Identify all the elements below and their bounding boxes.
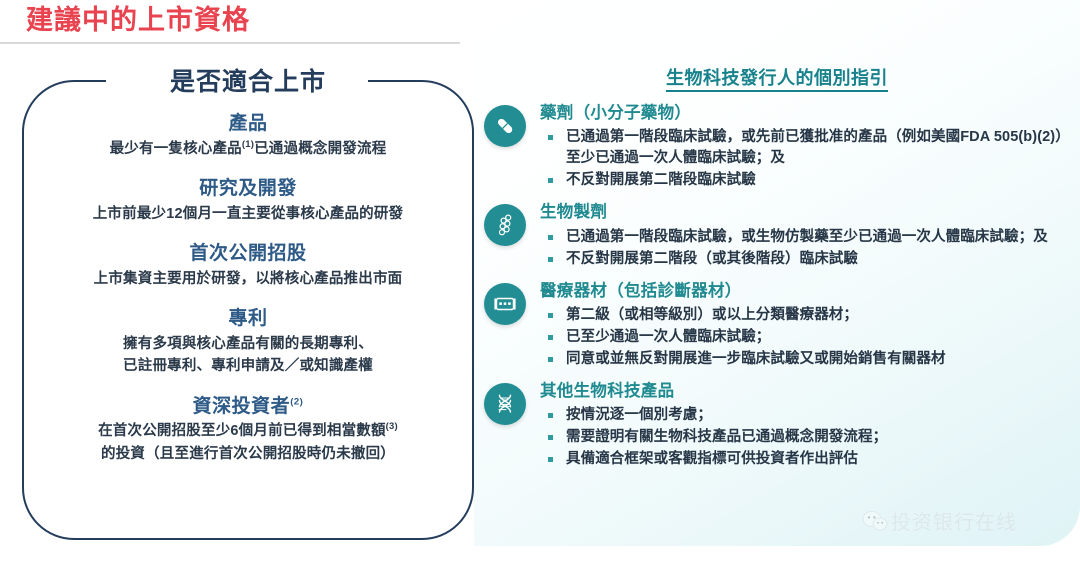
dna-helix-icon	[484, 383, 526, 425]
section-biologics: 生物製劑 已通過第一階段臨床試驗，或生物仿製藥至少已通過一次人體臨床試驗；及 不…	[484, 201, 1080, 270]
left-block-desc: 最少有一隻核心產品(1)已通過概念開發流程	[36, 138, 460, 160]
pill-capsule-icon	[484, 105, 526, 147]
section-title: 醫療器材（包括診斷器材）	[540, 280, 1080, 302]
section-body: 藥劑（小分子藥物） 已通過第一階段臨床試驗，或先前已獲批准的產品（例如美國FDA…	[540, 102, 1080, 192]
section-title: 藥劑（小分子藥物）	[540, 102, 1080, 124]
page-title: 建議中的上市資格	[26, 4, 250, 38]
section-bullet-list: 第二級（或相等級別）或以上分類醫療器材； 已至少通過一次人體臨床試驗； 同意或並…	[540, 305, 1080, 370]
left-block-desc-line1: 在首次公開招股至少6個月前已得到相當數額(3)	[36, 420, 460, 442]
section-body: 醫療器材（包括診斷器材） 第二級（或相等級別）或以上分類醫療器材； 已至少通過一…	[540, 280, 1080, 371]
bullet-item: 不反對開展第二階段臨床試驗	[540, 170, 1080, 191]
right-panel-heading: 生物科技發行人的個別指引	[474, 64, 1080, 90]
left-block-desc-line2: 已註冊專利、專利申請及／或知識產權	[36, 355, 460, 377]
section-bullet-list: 按情況逐一個別考慮； 需要證明有關生物科技產品已通過概念開發流程； 具備適合框架…	[540, 405, 1080, 470]
section-bullet-list: 已通過第一階段臨床試驗，或先前已獲批准的產品（例如美國FDA 505(b)(2)…	[540, 127, 1080, 191]
left-block-patent: 專利 擁有多項與核心產品有關的長期專利、 已註冊專利、專利申請及／或知識產權	[36, 305, 460, 377]
bullet-item: 第二級（或相等級別）或以上分類醫療器材；	[540, 305, 1080, 326]
left-block-title: 研究及開發	[36, 175, 460, 203]
section-bullet-list: 已通過第一階段臨床試驗，或生物仿製藥至少已通過一次人體臨床試驗；及 不反對開展第…	[540, 227, 1080, 270]
bullet-item: 已至少通過一次人體臨床試驗；	[540, 327, 1080, 348]
left-block-desc-line1: 擁有多項與核心產品有關的長期專利、	[36, 333, 460, 355]
footnote-marker-3: (3)	[386, 421, 398, 432]
bullet-item: 需要證明有關生物科技產品已通過概念開發流程；	[540, 427, 1080, 448]
left-block-desc-line2: 的投資（且至進行首次公開招股時仍未撤回）	[36, 443, 460, 465]
slide-root: 建議中的上市資格 是否適合上市 產品 最少有一隻核心產品(1)已通過概念開發流程…	[0, 0, 1080, 562]
left-block-desc-post: 已通過概念開發流程	[254, 141, 386, 157]
section-medical-device: 醫療器材（包括診斷器材） 第二級（或相等級別）或以上分類醫療器材； 已至少通過一…	[484, 280, 1080, 371]
medical-device-icon	[484, 283, 526, 325]
right-panel-heading-text: 生物科技發行人的個別指引	[666, 68, 888, 92]
left-block-ipo: 首次公開招股 上市集資主要用於研發，以將核心產品推出市面	[36, 240, 460, 290]
title-divider	[0, 42, 460, 44]
left-block-desc-pre: 在首次公開招股至少6個月前已得到相當數額	[98, 423, 386, 439]
left-block-desc-pre: 最少有一隻核心產品	[110, 141, 242, 157]
footnote-marker-2: (2)	[290, 396, 303, 407]
left-block-sophisticated-investor: 資深投資者(2) 在首次公開招股至少6個月前已得到相當數額(3) 的投資（且至進…	[36, 393, 460, 465]
left-block-rnd: 研究及開發 上市前最少12個月一直主要從事核心產品的研發	[36, 175, 460, 225]
section-other-biotech: 其他生物科技產品 按情況逐一個別考慮； 需要證明有關生物科技產品已通過概念開發流…	[484, 380, 1080, 471]
section-body: 其他生物科技產品 按情況逐一個別考慮； 需要證明有關生物科技產品已通過概念開發流…	[540, 380, 1080, 471]
section-title: 生物製劑	[540, 201, 1080, 223]
molecule-chain-icon	[484, 204, 526, 246]
left-block-title: 資深投資者(2)	[36, 393, 460, 421]
left-panel-heading: 是否適合上市	[22, 66, 474, 99]
bullet-item: 已通過第一階段臨床試驗，或先前已獲批准的產品（例如美國FDA 505(b)(2)…	[540, 127, 1080, 169]
left-panel: 是否適合上市 產品 最少有一隻核心產品(1)已通過概念開發流程 研究及開發 上市…	[22, 62, 474, 540]
section-body: 生物製劑 已通過第一階段臨床試驗，或生物仿製藥至少已通過一次人體臨床試驗；及 不…	[540, 201, 1080, 270]
left-block-product: 產品 最少有一隻核心產品(1)已通過概念開發流程	[36, 110, 460, 160]
bullet-item: 具備適合框架或客觀指標可供投資者作出評估	[540, 449, 1080, 470]
left-block-desc: 上市集資主要用於研發，以將核心產品推出市面	[36, 268, 460, 290]
bullet-item: 不反對開展第二階段（或其後階段）臨床試驗	[540, 249, 1080, 270]
left-panel-body: 產品 最少有一隻核心產品(1)已通過概念開發流程 研究及開發 上市前最少12個月…	[36, 110, 460, 465]
guidance-sections: 藥劑（小分子藥物） 已通過第一階段臨床試驗，或先前已獲批准的產品（例如美國FDA…	[484, 102, 1080, 480]
bullet-item: 已通過第一階段臨床試驗，或生物仿製藥至少已通過一次人體臨床試驗；及	[540, 227, 1080, 248]
right-panel: 生物科技發行人的個別指引 藥劑（小分子藥物） 已通過	[474, 0, 1080, 546]
bullet-item: 按情況逐一個別考慮；	[540, 405, 1080, 426]
section-pharmaceutical: 藥劑（小分子藥物） 已通過第一階段臨床試驗，或先前已獲批准的產品（例如美國FDA…	[484, 102, 1080, 192]
section-title: 其他生物科技產品	[540, 380, 1080, 402]
left-block-title: 專利	[36, 305, 460, 333]
bullet-item: 同意或並無反對開展進一步臨床試驗又或開始銷售有關器材	[540, 349, 1080, 370]
left-block-title: 產品	[36, 110, 460, 138]
left-block-desc: 上市前最少12個月一直主要從事核心產品的研發	[36, 203, 460, 225]
footnote-marker-1: (1)	[242, 139, 254, 150]
left-block-title-text: 資深投資者	[193, 396, 291, 417]
left-block-title: 首次公開招股	[36, 240, 460, 268]
